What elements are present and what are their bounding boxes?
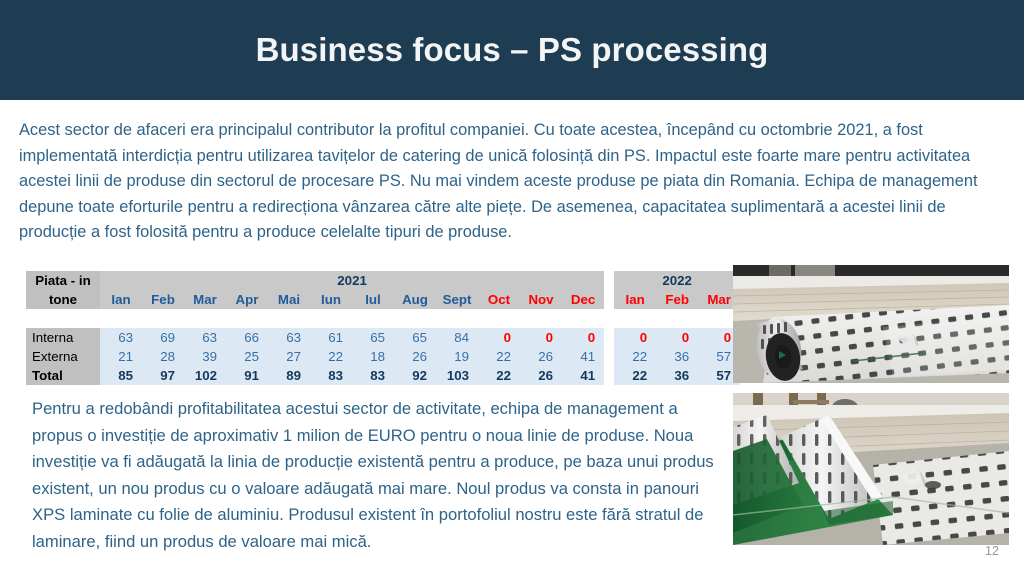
table-cell: 92 <box>394 366 436 385</box>
table-cell: 85 <box>100 366 142 385</box>
page-title: Business focus – PS processing <box>256 31 769 69</box>
table-cell: 26 <box>520 366 562 385</box>
table-cell: 97 <box>142 366 184 385</box>
table-cell: 22 <box>614 347 656 366</box>
table-cell: 63 <box>268 328 310 347</box>
intro-paragraph: Acest sector de afaceri era principalul … <box>19 118 1007 246</box>
sales-table-container: Piata - in20212022toneIanFebMarAprMaiIun… <box>26 271 714 385</box>
table-cell: 27 <box>268 347 310 366</box>
table-month-header: Iun <box>310 290 352 309</box>
table-header-separator <box>26 309 740 328</box>
table-cell: 36 <box>656 366 698 385</box>
table-cell: 22 <box>478 366 520 385</box>
table-cell: 18 <box>352 347 394 366</box>
table-corner-label-line1: Piata - in <box>26 271 100 290</box>
table-month-header: Oct <box>478 290 520 309</box>
table-month-header: Iul <box>352 290 394 309</box>
table-cell: 41 <box>562 347 604 366</box>
table-cell: 39 <box>184 347 226 366</box>
table-corner-label-line2: tone <box>26 290 100 309</box>
table-cell: 0 <box>520 328 562 347</box>
table-month-header: Apr <box>226 290 268 309</box>
table-cell: 0 <box>656 328 698 347</box>
table-cell-gap <box>604 328 614 347</box>
table-cell: 22 <box>478 347 520 366</box>
table-cell: 0 <box>478 328 520 347</box>
page-number: 12 <box>985 544 999 558</box>
table-cell: 61 <box>310 328 352 347</box>
table-month-header: Sept <box>436 290 478 309</box>
table-cell: 103 <box>436 366 478 385</box>
table-month-header: Nov <box>520 290 562 309</box>
table-cell: 83 <box>310 366 352 385</box>
table-row: Externa212839252722182619222641223657 <box>26 347 740 366</box>
underlay-roll-illustration <box>733 265 1009 383</box>
table-cell: 19 <box>436 347 478 366</box>
table-cell: 22 <box>310 347 352 366</box>
table-cell: 41 <box>562 366 604 385</box>
table-cell: 26 <box>394 347 436 366</box>
xps-panels-photo <box>733 393 1009 545</box>
table-cell-gap <box>604 366 614 385</box>
table-cell: 63 <box>184 328 226 347</box>
table-row-label: Interna <box>26 328 100 347</box>
table-cell: 66 <box>226 328 268 347</box>
underlay-roll-photo <box>733 265 1009 383</box>
table-row: Interna636963666361656584000000 <box>26 328 740 347</box>
table-cell: 22 <box>614 366 656 385</box>
table-header-year-row: Piata - in20212022 <box>26 271 740 290</box>
table-cell: 0 <box>562 328 604 347</box>
table-cell: 65 <box>352 328 394 347</box>
table-cell: 84 <box>436 328 478 347</box>
table-cell: 102 <box>184 366 226 385</box>
table-row-label: Externa <box>26 347 100 366</box>
table-cell: 0 <box>614 328 656 347</box>
table-cell: 28 <box>142 347 184 366</box>
market-volume-table: Piata - in20212022toneIanFebMarAprMaiIun… <box>26 271 740 385</box>
table-year-gap <box>604 271 614 290</box>
table-cell: 65 <box>394 328 436 347</box>
table-month-header: Ian <box>614 290 656 309</box>
table-cell: 91 <box>226 366 268 385</box>
table-month-header: Ian <box>100 290 142 309</box>
table-month-gap <box>604 290 614 309</box>
slide-title-bar: Business focus – PS processing <box>0 0 1024 100</box>
table-month-header: Aug <box>394 290 436 309</box>
table-header-month-row: toneIanFebMarAprMaiIunIulAugSeptOctNovDe… <box>26 290 740 309</box>
table-row: Total85971029189838392103222641223657 <box>26 366 740 385</box>
table-month-header: Feb <box>656 290 698 309</box>
table-cell: 25 <box>226 347 268 366</box>
table-cell: 63 <box>100 328 142 347</box>
table-month-header: Feb <box>142 290 184 309</box>
table-month-header: Mar <box>184 290 226 309</box>
table-month-header: Dec <box>562 290 604 309</box>
closing-paragraph: Pentru a redobândi profitabilitatea aces… <box>32 396 722 556</box>
table-cell: 26 <box>520 347 562 366</box>
table-row-label: Total <box>26 366 100 385</box>
table-cell: 69 <box>142 328 184 347</box>
table-cell-gap <box>604 347 614 366</box>
table-month-header: Mai <box>268 290 310 309</box>
table-cell: 36 <box>656 347 698 366</box>
table-cell: 83 <box>352 366 394 385</box>
table-cell: 21 <box>100 347 142 366</box>
xps-panels-illustration <box>733 393 1009 545</box>
table-year-2021: 2021 <box>100 271 604 290</box>
table-cell: 89 <box>268 366 310 385</box>
table-year-2022: 2022 <box>614 271 740 290</box>
